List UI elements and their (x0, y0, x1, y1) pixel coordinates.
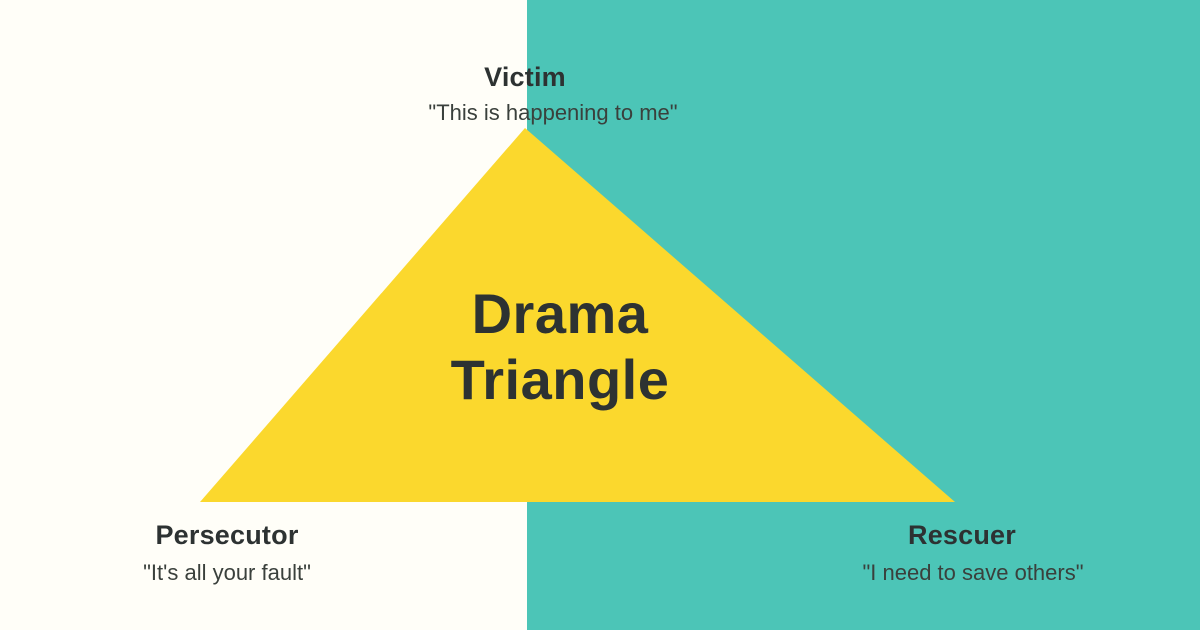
rescuer-title: Rescuer (908, 518, 1016, 552)
persecutor-title: Persecutor (155, 518, 298, 552)
center-title: Drama Triangle (451, 281, 670, 413)
victim-title: Victim (484, 60, 566, 94)
victim-quote: "This is happening to me" (428, 98, 677, 128)
center-title-line1: Drama (451, 281, 670, 347)
persecutor-quote: "It's all your fault" (143, 558, 311, 588)
rescuer-quote: "I need to save others" (862, 558, 1083, 588)
node-label-victim: Victim (484, 60, 566, 94)
node-label-persecutor: Persecutor (155, 518, 298, 552)
node-quote-persecutor-wrap: "It's all your fault" (143, 556, 311, 588)
node-quote-victim-wrap: "This is happening to me" (428, 96, 677, 128)
drama-triangle-infographic: Drama Triangle Victim "This is happening… (0, 0, 1200, 630)
center-title-line2: Triangle (451, 347, 670, 413)
node-quote-rescuer-wrap: "I need to save others" (862, 556, 1083, 588)
node-label-rescuer: Rescuer (908, 518, 1016, 552)
